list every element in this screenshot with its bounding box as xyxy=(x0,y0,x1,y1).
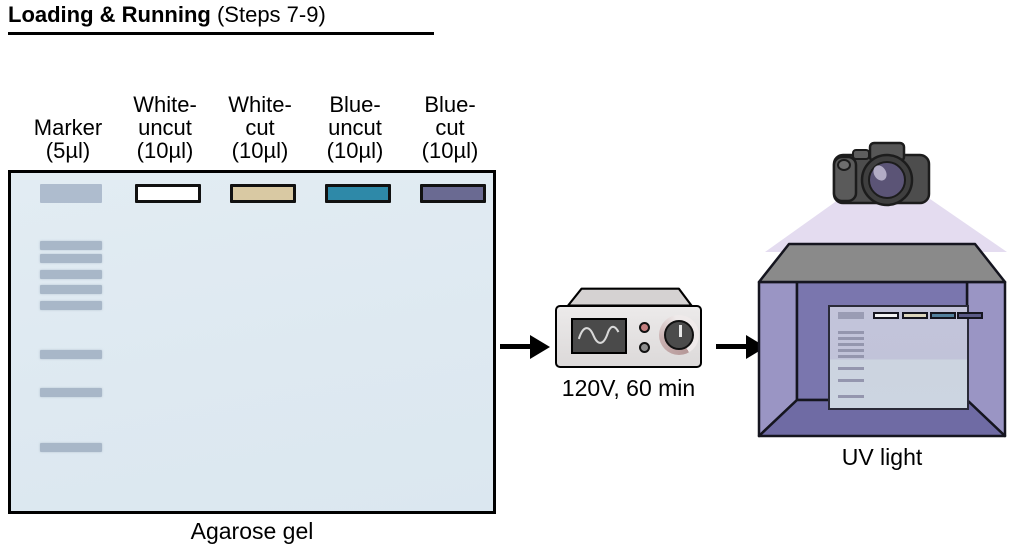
lane-header-line2: uncut xyxy=(113,117,217,140)
uv-mini-well-3 xyxy=(930,312,956,319)
marker-band xyxy=(40,443,102,452)
gel-well-white-uncut xyxy=(135,184,201,203)
uv-mini-marker-band xyxy=(838,379,864,382)
page-title-normal: (Steps 7-9) xyxy=(211,2,326,27)
agarose-gel xyxy=(8,170,496,514)
lane-header-white-cut: White-cut(10µl) xyxy=(208,94,312,163)
lane-header-line2: Marker xyxy=(16,117,120,140)
uv-mini-marker-band xyxy=(838,331,864,334)
gel-well-white-cut xyxy=(230,184,296,203)
marker-band xyxy=(40,301,102,310)
dslr-camera xyxy=(826,133,944,213)
uv-mini-well-1 xyxy=(873,312,899,319)
lane-header-line2: cut xyxy=(208,117,312,140)
marker-band xyxy=(40,388,102,397)
uv-light-label: UV light xyxy=(757,444,1007,471)
marker-band xyxy=(40,285,102,294)
uv-mini-well-marker xyxy=(838,312,864,319)
uv-mini-marker-band xyxy=(838,367,864,370)
gel-well-blue-uncut xyxy=(325,184,391,203)
lane-header-line1: White- xyxy=(208,94,312,117)
power-indicator-led xyxy=(639,322,650,333)
marker-band xyxy=(40,241,102,250)
power-supply xyxy=(551,287,706,369)
gel-well-blue-cut xyxy=(420,184,486,203)
lane-header-line2: cut xyxy=(398,117,502,140)
lane-header-blue-cut: Blue-cut(10µl) xyxy=(398,94,502,163)
uv-mini-marker-band xyxy=(838,337,864,340)
lane-header-volume: (10µl) xyxy=(208,140,312,163)
uv-transilluminator xyxy=(757,240,1007,445)
uv-mini-marker-band xyxy=(838,355,864,358)
uv-mini-marker-band xyxy=(838,349,864,352)
lane-header-marker: Marker(5µl) xyxy=(16,117,120,163)
lane-header-volume: (5µl) xyxy=(16,140,120,163)
uv-mini-well-4 xyxy=(957,312,983,319)
lane-header-volume: (10µl) xyxy=(303,140,407,163)
lane-header-white-uncut: White-uncut(10µl) xyxy=(113,94,217,163)
lane-header-volume: (10µl) xyxy=(398,140,502,163)
uv-mini-marker-band xyxy=(838,343,864,346)
marker-band xyxy=(40,350,102,359)
marker-band xyxy=(40,254,102,263)
lane-header-line1: Blue- xyxy=(398,94,502,117)
uv-mini-marker-band xyxy=(838,395,864,398)
lane-header-volume: (10µl) xyxy=(113,140,217,163)
page-title-bold: Loading & Running xyxy=(8,2,211,27)
power-supply-display xyxy=(571,318,627,354)
lane-header-blue-uncut: Blue-uncut(10µl) xyxy=(303,94,407,163)
page-title: Loading & Running (Steps 7-9) xyxy=(8,2,326,28)
agarose-gel-label: Agarose gel xyxy=(8,518,496,545)
voltage-knob-indicator xyxy=(679,325,682,337)
lane-header-line1: White- xyxy=(113,94,217,117)
uv-mini-well-2 xyxy=(902,312,928,319)
uv-box-top-panel xyxy=(759,244,1005,282)
power-supply-front-panel xyxy=(555,305,702,368)
voltage-knob[interactable] xyxy=(664,320,694,350)
power-supply-label: 120V, 60 min xyxy=(551,375,706,402)
uv-box-mini-gel xyxy=(828,305,969,410)
marker-band xyxy=(40,270,102,279)
status-indicator-led xyxy=(639,342,650,353)
lane-header-line1: Blue- xyxy=(303,94,407,117)
title-underline xyxy=(8,32,434,35)
gel-well-marker xyxy=(40,184,102,203)
lane-header-line2: uncut xyxy=(303,117,407,140)
